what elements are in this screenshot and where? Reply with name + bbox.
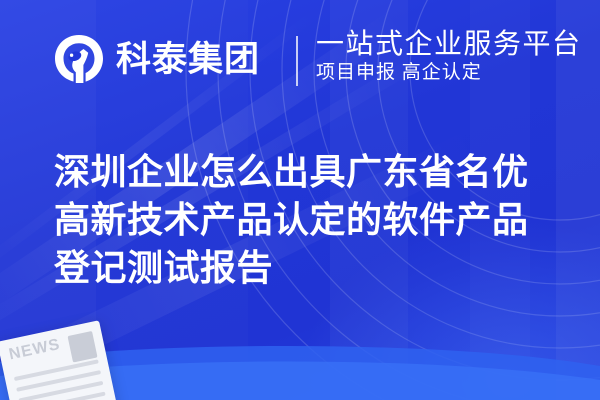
brand-divider: [296, 36, 298, 86]
tagline-sub: 项目申报 高企认定: [316, 61, 582, 86]
tagline-block: 一站式企业服务平台 项目申报 高企认定: [316, 28, 582, 86]
tagline-main: 一站式企业服务平台: [316, 28, 582, 59]
news-card-thumbnail: [67, 331, 97, 363]
news-card-lines: [14, 359, 110, 400]
news-card-line: [14, 359, 99, 381]
page-title: 深圳企业怎么出具广东省名优高新技术产品认定的软件产品登记测试报告: [54, 148, 554, 292]
promo-banner: 科泰集团 一站式企业服务平台 项目申报 高企认定 深圳企业怎么出具广东省名优高新…: [0, 0, 600, 400]
brand-lockup: 科泰集团: [52, 26, 260, 92]
ketai-circle-logo-icon: [52, 32, 106, 86]
brand-name: 科泰集团: [116, 42, 260, 77]
